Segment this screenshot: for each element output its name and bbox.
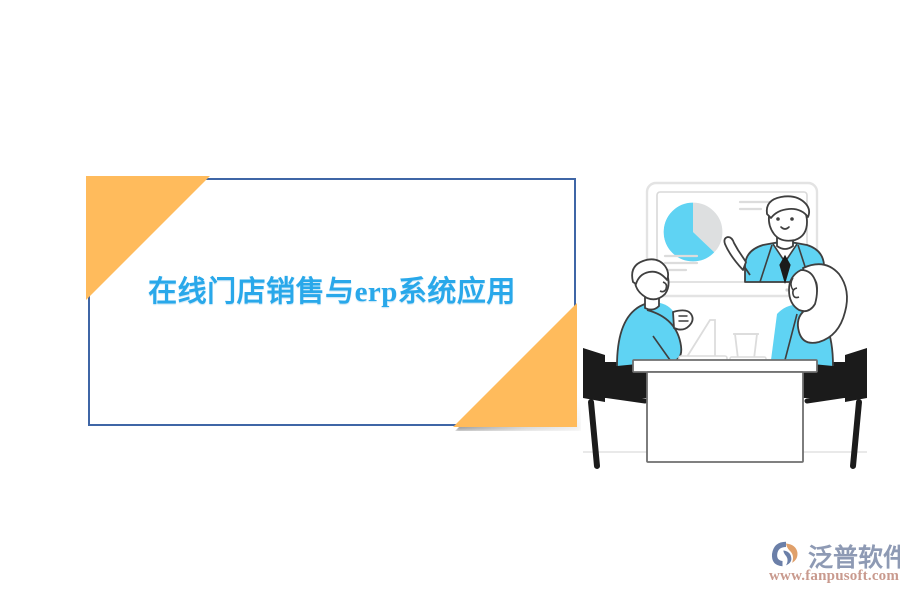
brand-logo: 泛普软件 www.fanpusoft.com [768,538,894,590]
fanpu-logo-mark-icon [768,540,804,568]
presenter-eye-right [790,217,794,221]
chair-left-leg [591,402,597,466]
glass-body [735,334,757,359]
drinking-glass-icon [730,334,766,361]
logo-website-url: www.fanpusoft.com [769,568,899,585]
logo-arc-shape [772,542,786,567]
pie-chart-icon [663,202,723,262]
presenter-eye-left [776,217,780,221]
table-top [633,360,817,372]
video-conference-illustration [575,170,875,470]
table-front-panel [647,372,803,462]
logo-inner-shape [783,551,791,566]
poster-canvas: 在线门店销售与erp系统应用 [0,0,900,600]
chair-right-leg [853,402,859,466]
person-left-hand [673,310,693,329]
conference-table [633,360,817,462]
page-title: 在线门店销售与erp系统应用 [88,268,576,310]
